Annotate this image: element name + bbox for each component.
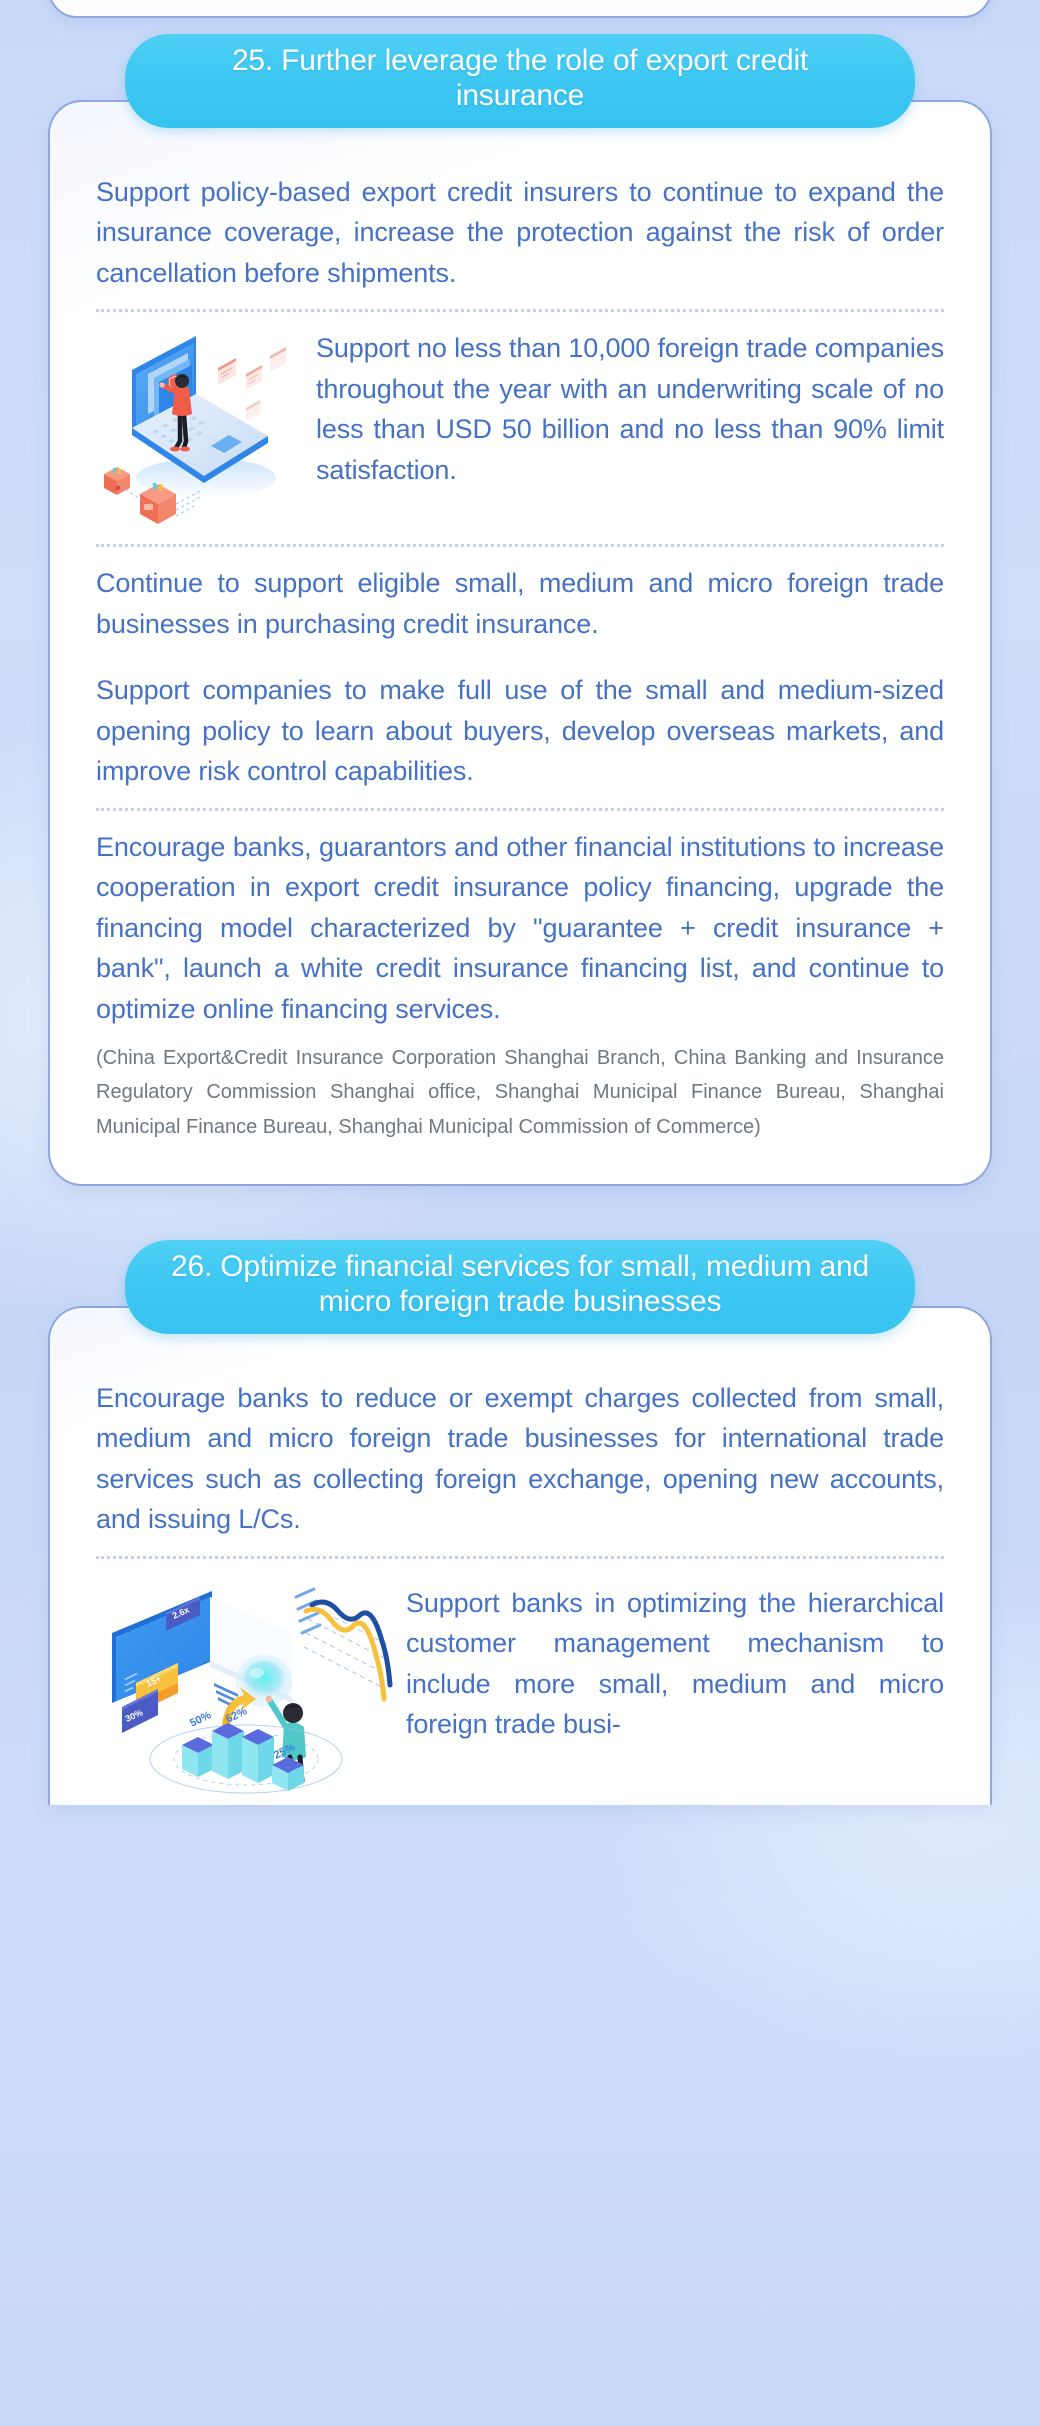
divider: [96, 544, 944, 547]
section-25-card: Support policy-based export credit insur…: [48, 100, 992, 1187]
paragraph-p25-2: Support no less than 10,000 foreign trad…: [316, 328, 944, 490]
section-26-card: Encourage banks to reduce or exempt char…: [48, 1306, 992, 1805]
paragraph-p25-4: Support companies to make full use of th…: [96, 670, 944, 792]
paragraph-p25-1: Support policy-based export credit insur…: [96, 172, 944, 294]
section-25-banner: 25. Further leverage the role of export …: [125, 34, 915, 128]
section-26-banner-title: 26. Optimize financial services for smal…: [171, 1250, 869, 1320]
section-26: 26. Optimize financial services for smal…: [48, 1230, 992, 1805]
paragraph-p25-3: Continue to support eligible small, medi…: [96, 563, 944, 644]
laptop-commerce-illustration: [96, 328, 306, 528]
paragraph-p25-5: Encourage banks, guarantors and other fi…: [96, 827, 944, 1030]
divider: [96, 1556, 944, 1559]
paragraph-p26-1: Encourage banks to reduce or exempt char…: [96, 1378, 944, 1540]
svg-text:50%: 50%: [188, 1709, 213, 1730]
divider: [96, 808, 944, 811]
data-dashboard-illustration: 2.6x 15+ 30%: [96, 1575, 396, 1795]
section-26-banner: 26. Optimize financial services for smal…: [125, 1240, 915, 1334]
divider: [96, 309, 944, 312]
section-25-banner-title: 25. Further leverage the role of export …: [171, 44, 869, 114]
paragraph-p26-2: Support banks in optimizing the hierarch…: [406, 1575, 944, 1745]
illustration-row-laptop: Support no less than 10,000 foreign trad…: [96, 328, 944, 528]
section-25: 25. Further leverage the role of export …: [48, 0, 992, 1186]
illustration-row-dashboard: 2.6x 15+ 30%: [96, 1575, 944, 1805]
section-25-attribution: (China Export&Credit Insurance Corporati…: [96, 1041, 944, 1144]
